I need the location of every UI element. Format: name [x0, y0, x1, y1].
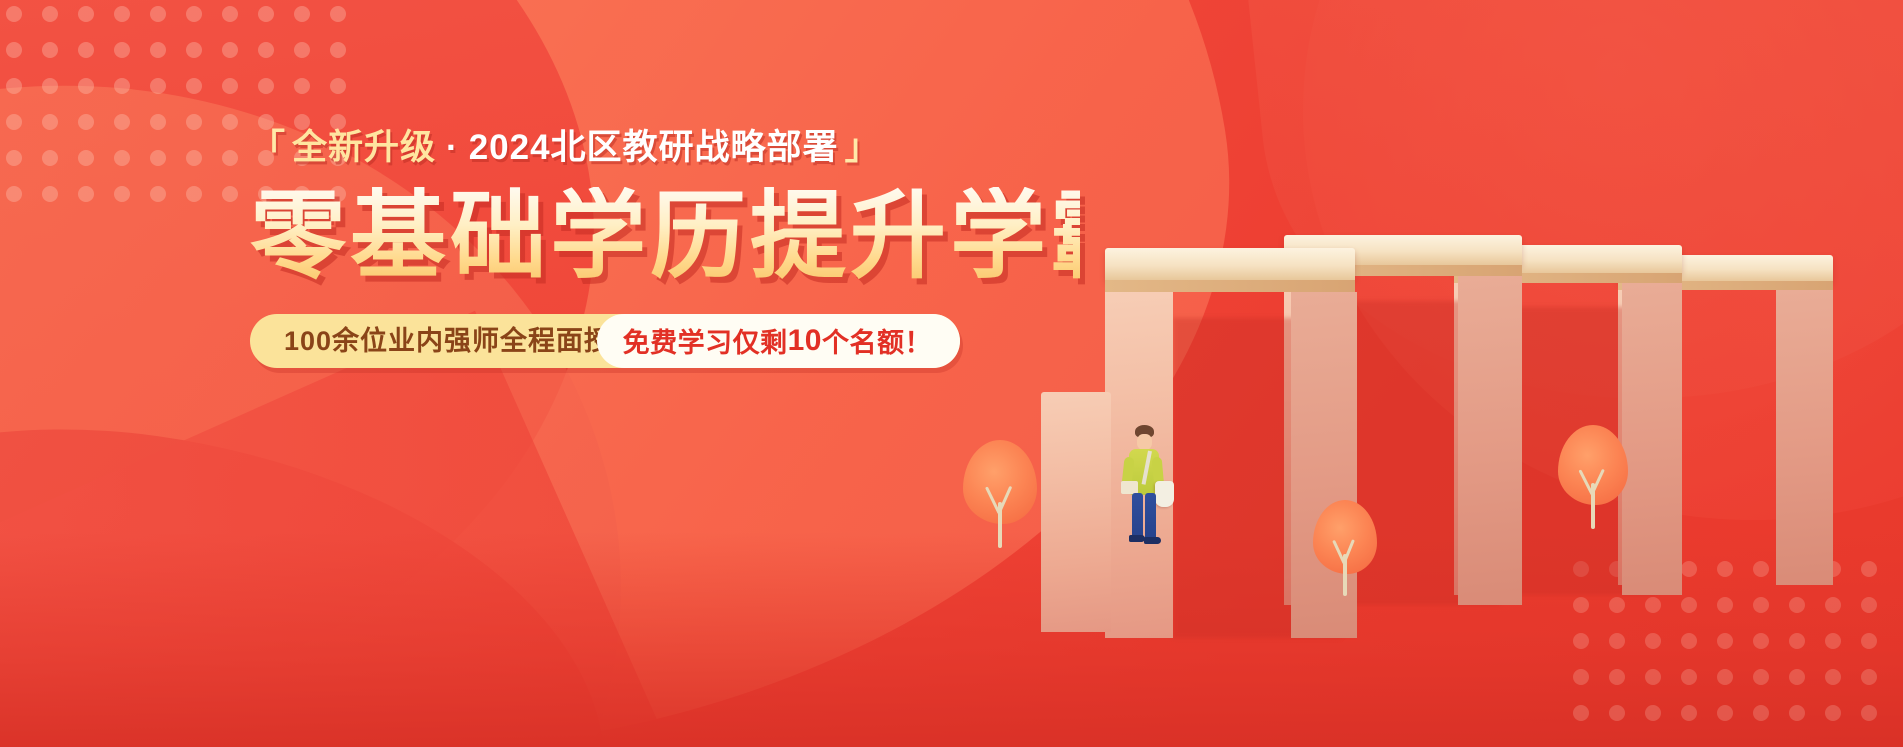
pill-seats-remaining[interactable]: 免费学习仅剩10个名额！: [597, 314, 960, 368]
seats-count: 10: [788, 324, 822, 358]
tree-left-icon: [963, 440, 1053, 550]
subtitle-gold-text: 全新升级: [292, 130, 436, 165]
banner-text-block: 「 全新升级 · 2024北区教研战略部署 」 零基础学历提升学霸班 100余位…: [250, 130, 1080, 368]
banner-subtitle: 「 全新升级 · 2024北区教研战略部署 」: [250, 130, 1080, 165]
bracket-open: 「: [250, 130, 286, 165]
illustration: [1023, 0, 1903, 747]
subtitle-white-text: 2024北区教研战略部署: [469, 130, 839, 165]
tree-center-icon: [1313, 500, 1393, 600]
subtitle-separator: ·: [442, 130, 463, 165]
seats-prefix-label: 免费学习仅剩: [623, 321, 788, 360]
promo-banner: 「 全新升级 · 2024北区教研战略部署 」 零基础学历提升学霸班 100余位…: [0, 0, 1903, 747]
pill-instructors-label: 100余位业内强师全程面授: [250, 314, 638, 368]
tree-right-icon: [1558, 425, 1644, 533]
feature-pill-group: 100余位业内强师全程面授 免费学习仅剩10个名额！: [250, 314, 960, 368]
bracket-close: 」: [845, 130, 881, 165]
student-figure-icon: [1115, 425, 1177, 545]
page-title: 零基础学历提升学霸班: [250, 187, 1080, 288]
seats-suffix-label: 个名额！: [822, 321, 932, 360]
